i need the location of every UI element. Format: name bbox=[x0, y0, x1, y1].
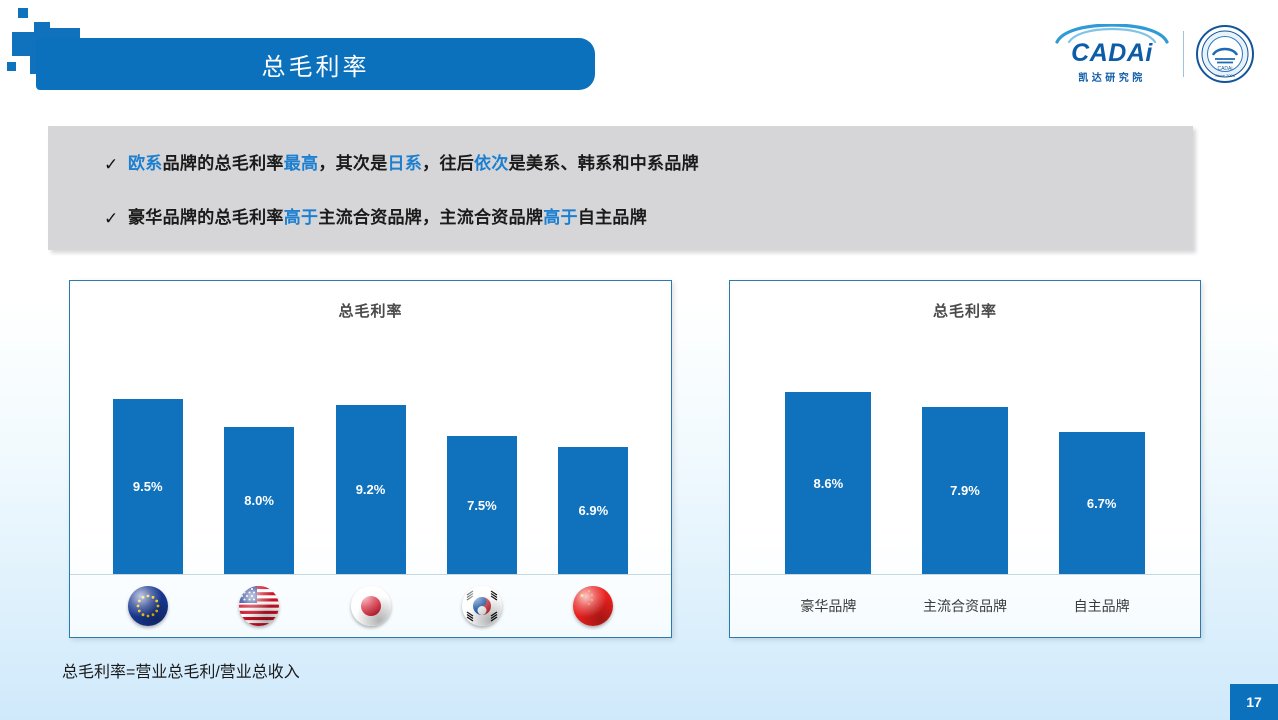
bullet-seg: 豪华品牌的总毛利率 bbox=[128, 208, 284, 227]
page-title: 总毛利率 bbox=[262, 47, 370, 82]
axis-slot: 自主品牌 bbox=[1033, 596, 1170, 616]
bar-value-label: 6.9% bbox=[558, 503, 628, 518]
bullet-text-1: 欧系品牌的总毛利率最高，其次是日系，往后依次是美系、韩系和中系品牌 bbox=[128, 154, 699, 174]
check-icon: ✓ bbox=[104, 156, 128, 173]
cn-flag-icon bbox=[573, 586, 613, 626]
bullet-text-2: 豪华品牌的总毛利率高于主流合资品牌，主流合资品牌高于自主品牌 bbox=[128, 208, 647, 228]
bullet-seg: ，往后 bbox=[422, 154, 474, 173]
bar-slot: 7.9% bbox=[897, 333, 1034, 574]
bar-slot: 8.0% bbox=[203, 333, 314, 574]
bar-value-label: 9.5% bbox=[113, 479, 183, 494]
car-silhouette-icon bbox=[1053, 24, 1171, 44]
bullet-seg: 是美系、韩系和中系品牌 bbox=[509, 154, 699, 173]
bullet-seg: ，其次是 bbox=[318, 154, 387, 173]
bullet-item-1: ✓ 欧系品牌的总毛利率最高，其次是日系，往后依次是美系、韩系和中系品牌 bbox=[104, 154, 1163, 174]
bar-eu[interactable]: 9.5% bbox=[113, 399, 183, 574]
svg-text:CADAi: CADAi bbox=[1217, 66, 1232, 72]
chart-title-right: 总毛利率 bbox=[730, 300, 1200, 321]
bar-slot: 6.9% bbox=[538, 333, 649, 574]
cadai-wordmark: CADAi bbox=[1071, 41, 1153, 66]
bar-slot: 9.5% bbox=[92, 333, 203, 574]
axis-slot: 主流合资品牌 bbox=[897, 596, 1034, 616]
deco-square-1 bbox=[18, 8, 28, 18]
chart-card-by-origin: 总毛利率 9.5% 8.0% 9.2% 7.5% bbox=[69, 280, 672, 638]
bar-group-left: 9.5% 8.0% 9.2% 7.5% 6.9% bbox=[70, 333, 671, 575]
chart-plot-right: 8.6% 7.9% 6.7% 豪华品牌 主流合资品牌 自主品牌 bbox=[730, 333, 1200, 637]
eu-flag-icon bbox=[128, 586, 168, 626]
brand-logo: CADAi 凯达研究院 CADAi Since 2008 bbox=[1053, 22, 1254, 86]
bar-value-label: 6.7% bbox=[1059, 496, 1145, 511]
chart-title-left: 总毛利率 bbox=[70, 300, 671, 321]
bar-value-label: 7.9% bbox=[922, 483, 1008, 498]
bullet-seg: 品牌的总毛利率 bbox=[163, 154, 284, 173]
bullet-seg: 自主品牌 bbox=[578, 208, 647, 227]
bullet-seg: 欧系 bbox=[128, 154, 163, 173]
chart-card-by-segment: 总毛利率 8.6% 7.9% 6.7% 豪华品牌 bbox=[729, 280, 1201, 638]
axis-label-domestic: 自主品牌 bbox=[1074, 596, 1130, 616]
axis-slot bbox=[538, 586, 649, 626]
bar-value-label: 7.5% bbox=[447, 498, 517, 513]
bar-value-label: 8.6% bbox=[785, 476, 871, 491]
slide-title-banner: 总毛利率 bbox=[36, 38, 595, 90]
bullet-seg: 最高 bbox=[284, 154, 319, 173]
bar-kr[interactable]: 7.5% bbox=[447, 436, 517, 574]
logo-divider bbox=[1183, 31, 1184, 77]
svg-text:Since 2008: Since 2008 bbox=[1215, 73, 1236, 78]
axis-slot bbox=[426, 586, 537, 626]
bullet-seg: 日系 bbox=[388, 154, 423, 173]
bar-luxury[interactable]: 8.6% bbox=[785, 392, 871, 574]
bar-slot: 8.6% bbox=[760, 333, 897, 574]
bullet-seg: 高于 bbox=[543, 208, 578, 227]
bar-cn[interactable]: 6.9% bbox=[558, 447, 628, 574]
x-axis-left bbox=[70, 575, 671, 637]
footnote: 总毛利率=营业总毛利/营业总收入 bbox=[62, 658, 300, 682]
bar-us[interactable]: 8.0% bbox=[224, 427, 294, 574]
kr-flag-icon bbox=[462, 586, 502, 626]
axis-slot bbox=[92, 586, 203, 626]
bar-domestic[interactable]: 6.7% bbox=[1059, 432, 1145, 574]
check-icon: ✓ bbox=[104, 210, 128, 227]
jp-flag-icon bbox=[351, 586, 391, 626]
chart-plot-left: 9.5% 8.0% 9.2% 7.5% 6.9% bbox=[70, 333, 671, 637]
page-number: 17 bbox=[1246, 694, 1262, 710]
us-flag-icon bbox=[239, 586, 279, 626]
bar-group-right: 8.6% 7.9% 6.7% bbox=[730, 333, 1200, 575]
bar-joint-venture[interactable]: 7.9% bbox=[922, 407, 1008, 574]
axis-slot: 豪华品牌 bbox=[760, 596, 897, 616]
bullet-item-2: ✓ 豪华品牌的总毛利率高于主流合资品牌，主流合资品牌高于自主品牌 bbox=[104, 208, 1163, 228]
bar-slot: 6.7% bbox=[1033, 333, 1170, 574]
x-axis-right: 豪华品牌 主流合资品牌 自主品牌 bbox=[730, 575, 1200, 637]
bullet-seg: 高于 bbox=[284, 208, 319, 227]
institute-seal-icon: CADAi Since 2008 bbox=[1196, 25, 1254, 83]
bar-value-label: 9.2% bbox=[336, 482, 406, 497]
axis-label-luxury: 豪华品牌 bbox=[800, 596, 856, 616]
bullet-seg: 依次 bbox=[474, 154, 509, 173]
deco-square-4 bbox=[7, 62, 16, 71]
cadai-chinese-name: 凯达研究院 bbox=[1078, 69, 1146, 84]
axis-slot bbox=[315, 586, 426, 626]
bar-jp[interactable]: 9.2% bbox=[336, 405, 406, 574]
bar-slot: 7.5% bbox=[426, 333, 537, 574]
axis-label-joint-venture: 主流合资品牌 bbox=[923, 596, 1007, 616]
summary-panel: ✓ 欧系品牌的总毛利率最高，其次是日系，往后依次是美系、韩系和中系品牌 ✓ 豪华… bbox=[48, 126, 1193, 250]
bar-value-label: 8.0% bbox=[224, 493, 294, 508]
axis-slot bbox=[203, 586, 314, 626]
bar-slot: 9.2% bbox=[315, 333, 426, 574]
bullet-seg: 主流合资品牌，主流合资品牌 bbox=[318, 208, 543, 227]
page-number-box: 17 bbox=[1230, 684, 1278, 720]
cadai-logo: CADAi 凯达研究院 bbox=[1053, 24, 1171, 84]
